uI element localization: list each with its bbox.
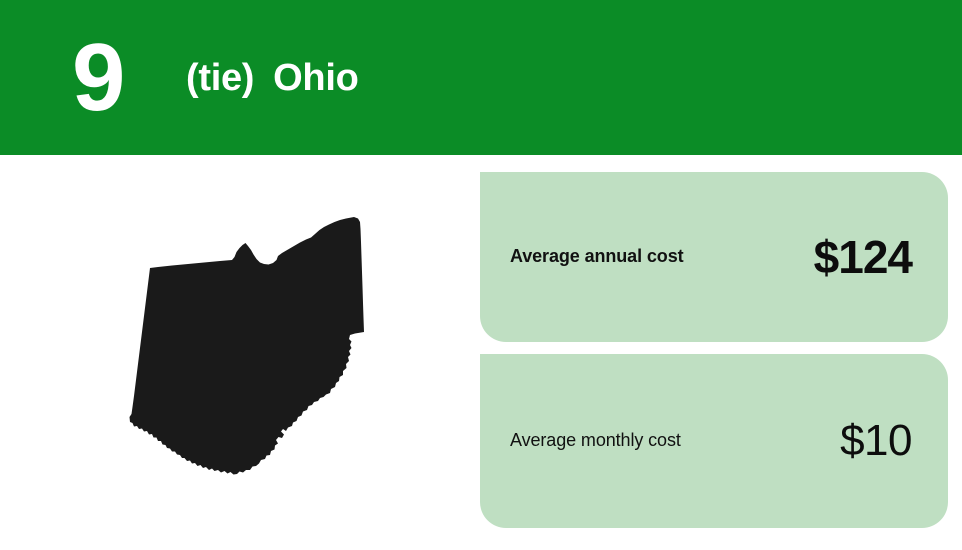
average-annual-cost-label: Average annual cost xyxy=(510,247,684,267)
average-monthly-cost-label: Average monthly cost xyxy=(510,431,681,451)
average-monthly-cost-value: $10 xyxy=(840,419,912,463)
page-title: (tie) Ohio xyxy=(186,59,359,97)
average-annual-cost-card: Average annual cost $124 xyxy=(480,172,948,342)
rank-number: 9 xyxy=(72,30,123,126)
average-monthly-cost-card: Average monthly cost $10 xyxy=(480,354,948,528)
state-ranking-slide: 9 (tie) Ohio Average annual cost $124 Av… xyxy=(0,0,962,550)
average-annual-cost-value: $124 xyxy=(814,234,912,280)
header-band: 9 (tie) Ohio xyxy=(0,0,962,155)
tie-label: (tie) xyxy=(186,59,254,97)
state-map xyxy=(110,208,382,488)
stat-cards: Average annual cost $124 Average monthly… xyxy=(480,172,948,528)
state-name: Ohio xyxy=(273,59,358,97)
ohio-state-silhouette-icon xyxy=(110,208,382,488)
